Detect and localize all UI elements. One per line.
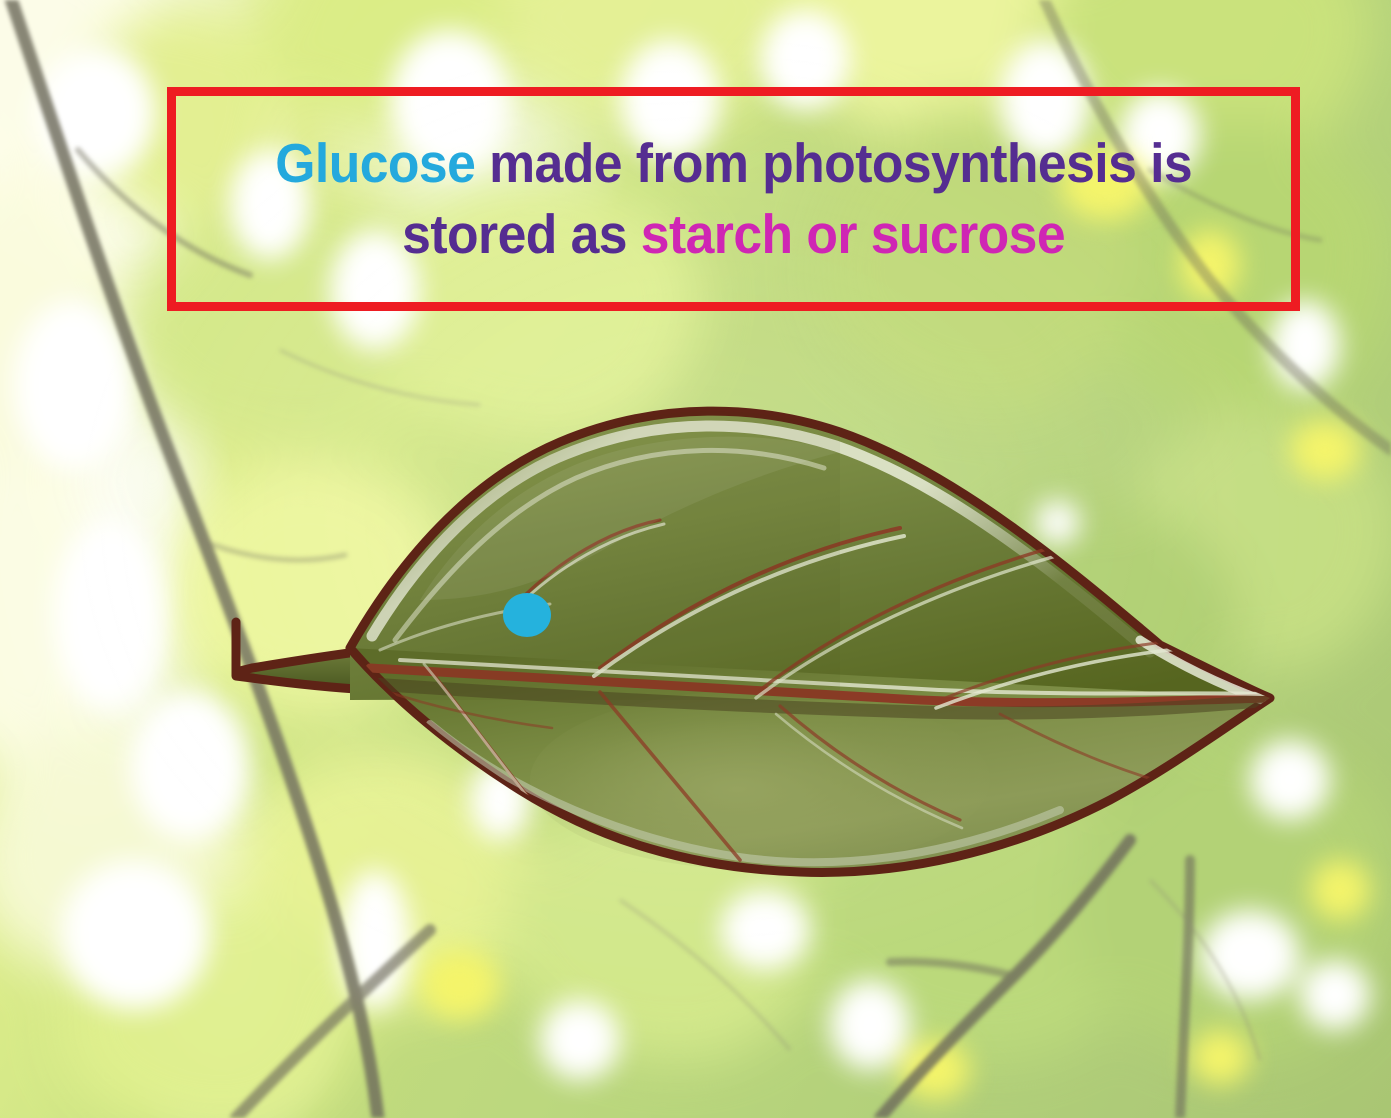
caption-line-1: Glucose made from photosynthesis is xyxy=(275,128,1192,200)
caption-box: Glucose made from photosynthesis is stor… xyxy=(167,87,1300,311)
line1-rest: made from photosynthesis is xyxy=(475,132,1192,194)
line2-lead: stored as xyxy=(402,203,641,265)
illustration-canvas: Glucose made from photosynthesis is stor… xyxy=(0,0,1391,1118)
starch-sucrose-words: starch or sucrose xyxy=(641,203,1065,265)
glucose-marker-dot[interactable] xyxy=(503,593,551,637)
caption-line-2: stored as starch or sucrose xyxy=(402,199,1065,271)
glucose-word: Glucose xyxy=(275,132,475,194)
